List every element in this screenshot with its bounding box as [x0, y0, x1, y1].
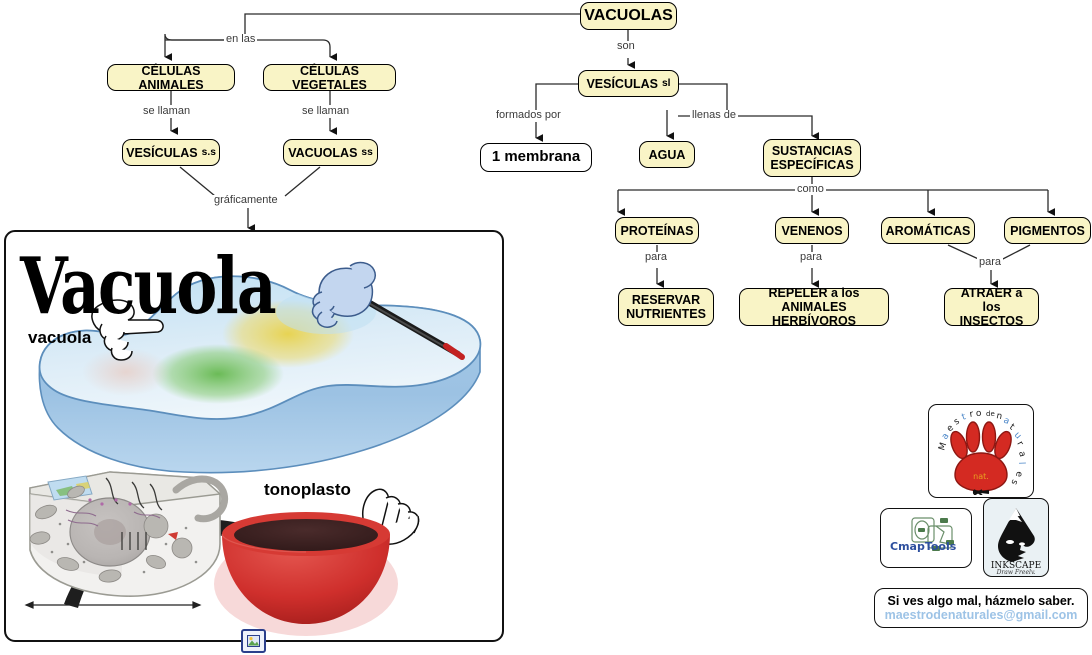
node-vesiculas-ss[interactable]: VESÍCULAS s.s	[122, 139, 220, 166]
link-label-para-1: para	[643, 252, 669, 263]
svg-text:r: r	[969, 409, 975, 420]
footnote-email[interactable]: maestrodenaturales@gmail.com	[885, 608, 1078, 622]
node-vesiculas-sl[interactable]: VESÍCULAS sl	[578, 70, 679, 97]
link-label-graficamente: gráficamente	[212, 195, 280, 206]
node-label: 1 membrana	[492, 149, 580, 166]
node-label: REPELER a los ANIMALES HERBÍVOROS	[747, 286, 881, 328]
inkscape-logo[interactable]: INKSCAPE Draw Freely.	[983, 498, 1049, 577]
node-label: VENENOS	[781, 224, 842, 238]
node-label: PIGMENTOS	[1010, 224, 1085, 238]
node-venenos[interactable]: VENENOS	[775, 217, 849, 244]
svg-text:t: t	[1007, 422, 1016, 432]
concept-map-canvas: VACUOLAS CÉLULAS ANIMALES CÉLULAS VEGETA…	[0, 0, 1092, 655]
node-label: CÉLULAS VEGETALES	[271, 64, 388, 92]
node-label: PROTEÍNAS	[621, 224, 694, 238]
scale-bar	[26, 602, 200, 608]
node-repeler-animales-herbivoros[interactable]: REPELER a los ANIMALES HERBÍVOROS	[739, 288, 889, 326]
node-label: VACUOLAS	[584, 7, 673, 25]
node-label-suffix: s.s	[202, 147, 216, 158]
label-vacuola: vacuola	[28, 328, 91, 348]
footnote-box: Si ves algo mal, házmelo saber. maestrod…	[874, 588, 1088, 628]
link-label-se-llaman-1: se llaman	[141, 106, 192, 117]
node-label: SUSTANCIAS ESPECÍFICAS	[770, 144, 853, 172]
svg-text:e: e	[1013, 470, 1024, 478]
image-icon[interactable]	[241, 629, 266, 653]
link-label-para-3: para	[977, 257, 1003, 268]
svg-text:CmapTools: CmapTools	[890, 540, 957, 553]
link-label-llenas-de: llenas de	[690, 110, 738, 121]
node-vacuolas-ss[interactable]: VACUOLAS ss	[283, 139, 378, 166]
node-vacuolas[interactable]: VACUOLAS	[580, 2, 677, 30]
node-label: AGUA	[649, 148, 686, 162]
svg-text:s: s	[952, 416, 962, 427]
node-atraer-insectos[interactable]: ATRAER a los INSECTOS	[944, 288, 1039, 326]
svg-text:de: de	[986, 410, 995, 418]
label-tonoplasto: tonoplasto	[264, 480, 351, 500]
svg-text:Draw Freely.: Draw Freely.	[996, 569, 1036, 574]
svg-text:s: s	[1008, 478, 1019, 486]
node-label: ATRAER a los INSECTOS	[952, 286, 1031, 328]
link-label-como: como	[795, 184, 826, 195]
link-label-se-llaman-2: se llaman	[300, 106, 351, 117]
node-label: VESÍCULAS	[586, 77, 658, 91]
link-label-son: son	[615, 41, 637, 52]
svg-text:o: o	[976, 409, 982, 419]
illustration-panel[interactable]: Vacuola vacuola tonoplasto vesícula	[4, 230, 504, 642]
node-label-suffix: ss	[361, 147, 372, 158]
link-label-en-las: en las	[224, 34, 257, 45]
link-label-formados-por: formados por	[494, 110, 563, 121]
svg-text:a: a	[1002, 416, 1011, 427]
node-pigmentos[interactable]: PIGMENTOS	[1004, 217, 1091, 244]
node-celulas-vegetales[interactable]: CÉLULAS VEGETALES	[263, 64, 396, 91]
maestro-de-naturales-logo[interactable]: nat. M a e s t r o de n a t u r a l e s	[928, 404, 1034, 498]
svg-text:M: M	[937, 441, 949, 451]
cmaptools-logo[interactable]: CmapTools	[880, 508, 972, 568]
node-aromaticas[interactable]: AROMÁTICAS	[881, 217, 975, 244]
svg-text:a: a	[1016, 450, 1027, 458]
node-celulas-animales[interactable]: CÉLULAS ANIMALES	[107, 64, 235, 91]
svg-text:n: n	[995, 411, 1003, 422]
vesicle-bowl-shape	[214, 512, 398, 636]
footnote-line1: Si ves algo mal, házmelo saber.	[888, 594, 1075, 608]
node-sustancias-especificas[interactable]: SUSTANCIAS ESPECÍFICAS	[763, 139, 861, 177]
node-1-membrana[interactable]: 1 membrana	[480, 143, 592, 172]
node-reservar-nutrientes[interactable]: RESERVAR NUTRIENTES	[618, 288, 714, 326]
illustration-title: Vacuola	[20, 240, 275, 332]
node-label: CÉLULAS ANIMALES	[115, 64, 227, 92]
node-label: VACUOLAS	[288, 146, 357, 160]
node-label: VESÍCULAS	[126, 146, 198, 160]
node-label: RESERVAR NUTRIENTES	[626, 293, 706, 321]
link-label-para-2: para	[798, 252, 824, 263]
svg-text:nat.: nat.	[973, 472, 989, 481]
node-proteinas[interactable]: PROTEÍNAS	[615, 217, 699, 244]
node-agua[interactable]: AGUA	[639, 141, 695, 168]
svg-text:t: t	[961, 412, 968, 423]
cell-diagram	[29, 472, 225, 596]
node-label-suffix: sl	[662, 78, 671, 89]
svg-text:r: r	[1014, 440, 1025, 448]
node-label: AROMÁTICAS	[886, 224, 971, 238]
svg-text:l: l	[1016, 462, 1026, 465]
